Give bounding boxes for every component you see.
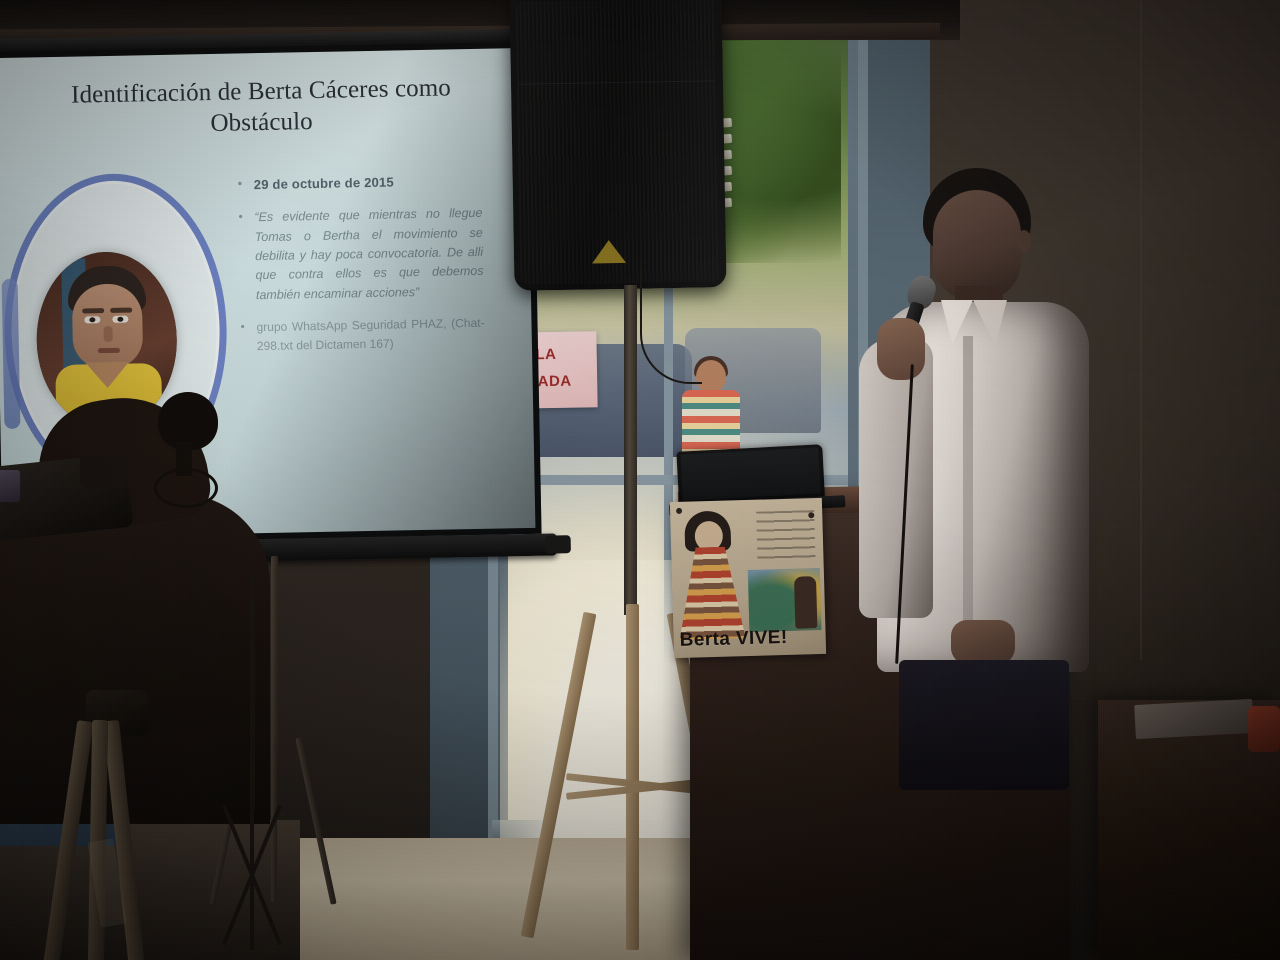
portrait-mouth: [98, 348, 120, 353]
camera-lens-hood: [80, 454, 128, 488]
presenter-head: [933, 190, 1021, 300]
poster-pin-left: [676, 508, 682, 514]
portrait-nose: [103, 326, 112, 342]
pa-loudspeaker: [509, 0, 726, 291]
presenter-ear: [1017, 230, 1031, 252]
portrait-face: [72, 283, 144, 368]
boom-microphone: [148, 392, 220, 502]
presenter: [855, 168, 1105, 788]
presenter-shirt-placket: [963, 336, 973, 636]
portrait-eye-left: [84, 316, 100, 323]
boom-mic-shock-mount: [154, 468, 218, 508]
speaker-brand-triangle-icon: [592, 240, 626, 264]
light-stand-pole: [250, 570, 255, 810]
camera-flip-screen: [0, 470, 20, 502]
presenter-arm: [859, 338, 933, 618]
laptop-screen: [681, 447, 821, 500]
poster-handwritten-text: [756, 510, 815, 562]
photo-scene: ILA RVADA Identificación de Berta Cácere…: [0, 0, 1280, 960]
table-papers: [1134, 699, 1254, 739]
portrait-eye-right: [112, 316, 128, 323]
table-red-object: [1248, 706, 1280, 752]
speaker-tripod-leg-3: [626, 604, 639, 950]
portrait-brow-right: [110, 308, 132, 313]
light-stand-leg-3: [250, 800, 254, 950]
slide-bullet-quote: “Es evidente que mientras no llegue Toma…: [234, 204, 484, 306]
slide-bullet-source: grupo WhatsApp Seguridad PHAZ, (Chat-298…: [236, 314, 485, 356]
slide-title: Identificación de Berta Cáceres como Obs…: [18, 72, 505, 142]
wall-seam: [1140, 0, 1142, 660]
presenter-hand-holding-mic: [877, 318, 925, 380]
slide-bullet-list: 29 de octubre de 2015 “Es evidente que m…: [234, 171, 486, 369]
presenter-trousers: [899, 660, 1069, 790]
presenter-hand-resting: [951, 620, 1015, 664]
poster-second-figure: [794, 576, 817, 629]
light-stand: [180, 690, 330, 960]
slide-bullet-date: 29 de octubre de 2015: [234, 171, 482, 196]
camera-tripod-leg-1: [43, 720, 94, 960]
portrait-brow-left: [82, 308, 104, 313]
window-sign-line1: ILA: [531, 345, 597, 363]
poster-title: Berta VIVE!: [679, 626, 822, 652]
speaker-stand-pole: [624, 285, 637, 615]
poster-figure-dress: [677, 546, 746, 640]
protest-poster: Berta VIVE!: [670, 498, 826, 658]
